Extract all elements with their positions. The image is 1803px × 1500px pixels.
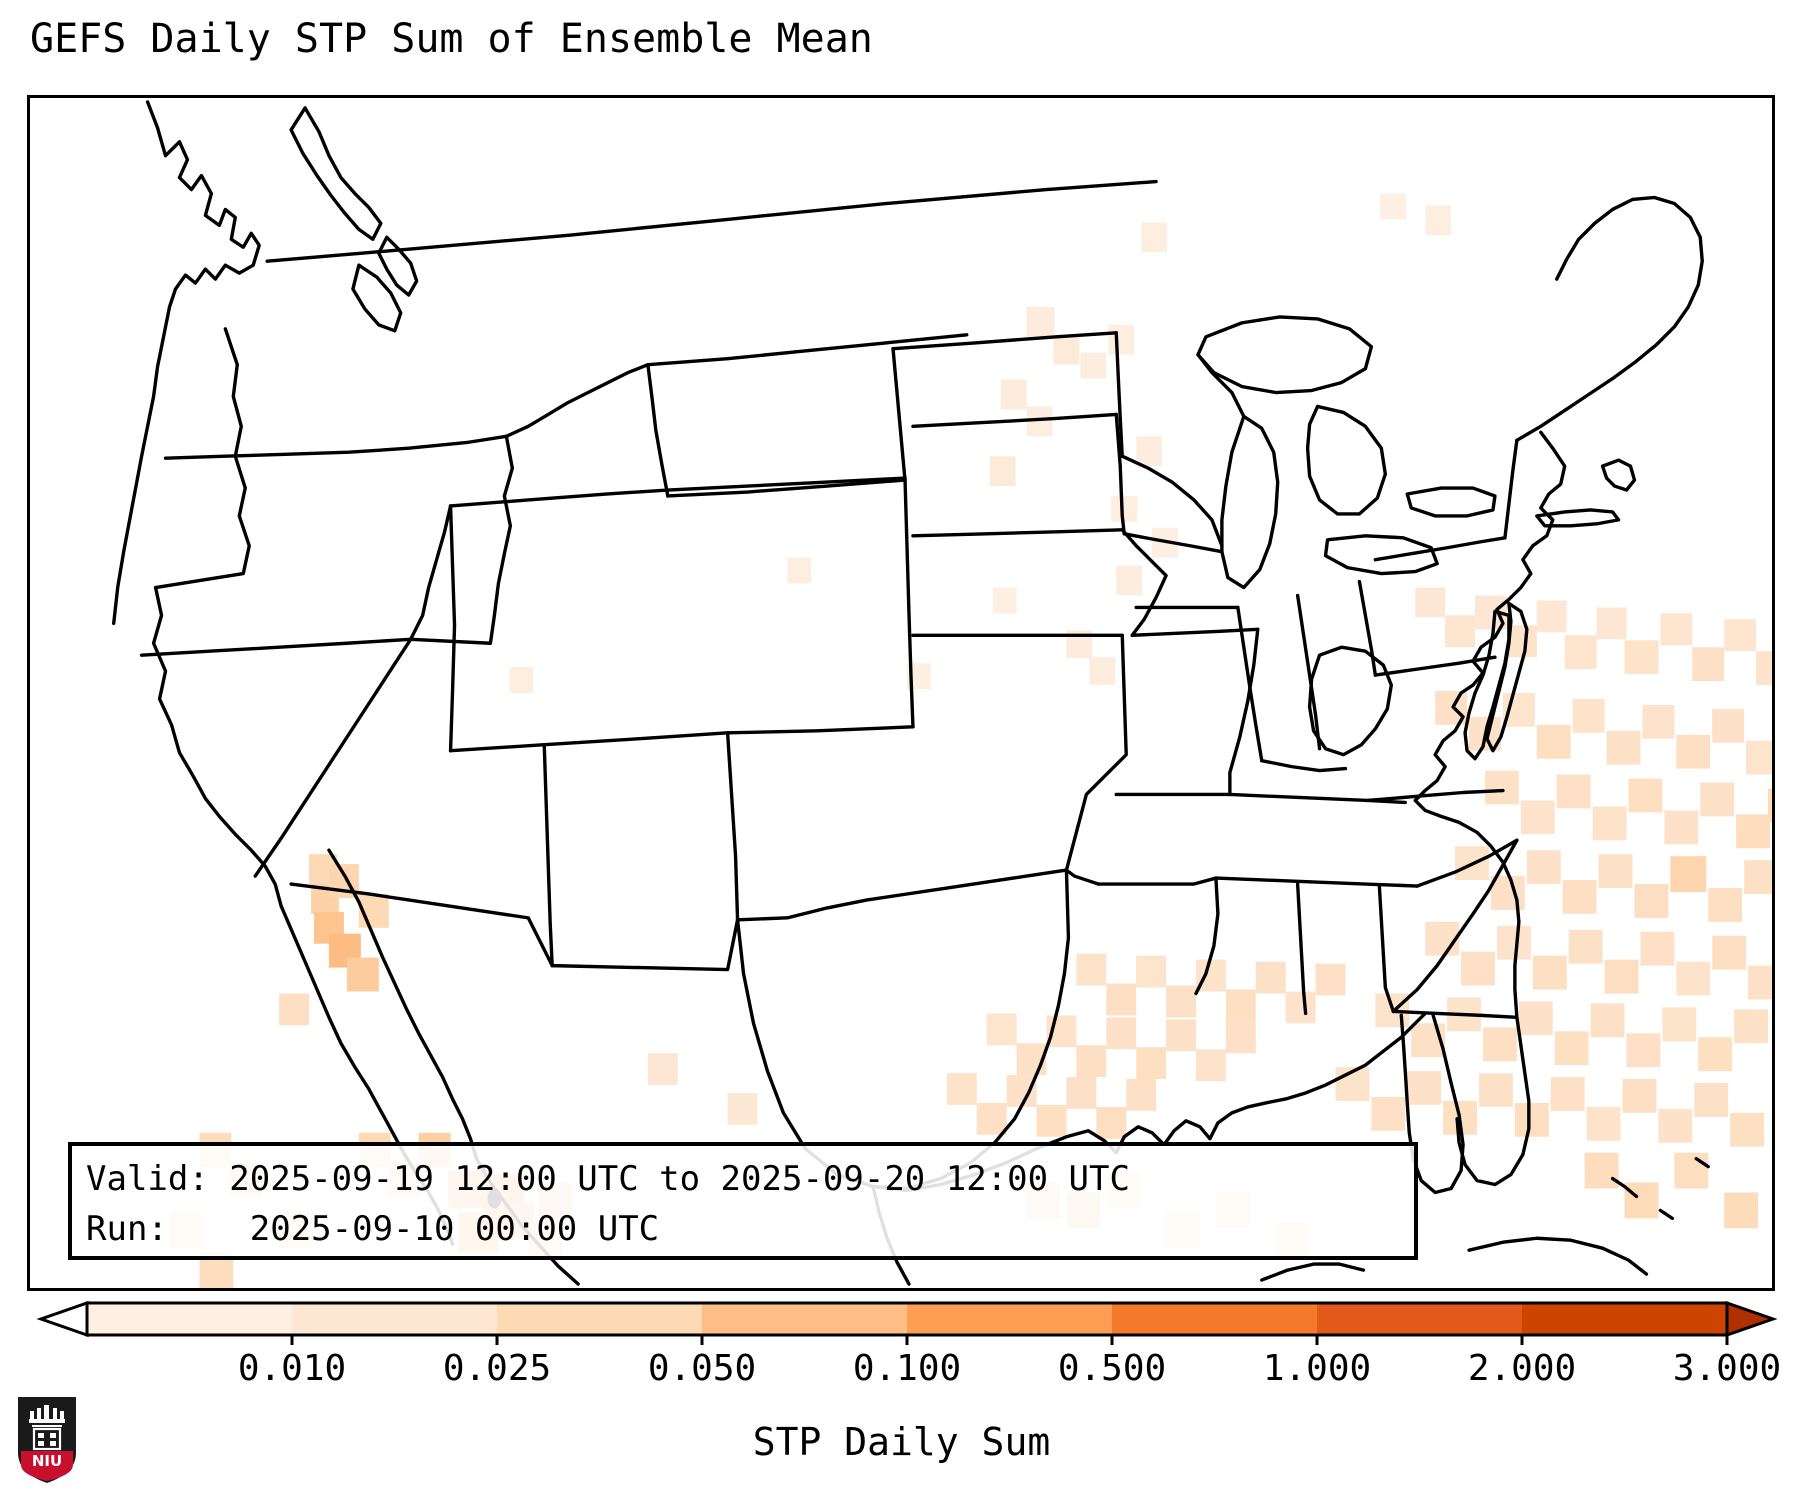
niu-logo: NIU (16, 1395, 78, 1485)
heatmap-cell (1371, 1097, 1405, 1131)
heatmap-cell (1746, 741, 1772, 775)
heatmap-cell (1642, 705, 1674, 739)
heatmap-cell (1585, 1153, 1619, 1189)
colorbar-segment (1522, 1303, 1728, 1335)
heatmap-cell (1141, 222, 1167, 252)
heatmap-cell (279, 993, 309, 1025)
page-title: GEFS Daily STP Sum of Ensemble Mean (30, 16, 873, 62)
heatmap-cell (1555, 1031, 1589, 1065)
heatmap-cell (1694, 1083, 1728, 1117)
border-ut-nv-az (451, 506, 455, 751)
colorbar-segment (292, 1303, 498, 1335)
heatmap-cell (1597, 607, 1627, 639)
border-ny-vt-ma (1505, 440, 1517, 538)
heatmap-cell (1089, 657, 1115, 685)
heatmap-cell (1634, 884, 1668, 918)
heatmap-cell (1607, 731, 1641, 765)
yucatan-coast (1262, 1264, 1364, 1280)
heatmap-cell (1037, 1105, 1067, 1137)
colorbar-tick-label: 0.500 (1058, 1348, 1166, 1389)
colorbar-tick-label: 0.100 (853, 1348, 961, 1389)
heatmap-cell (1166, 986, 1196, 1018)
border-nv-ut (411, 506, 451, 639)
heatmap-cell (1664, 810, 1698, 844)
border-az-nm (544, 745, 552, 966)
heatmap-cell (1551, 1077, 1585, 1111)
map-panel[interactable] (27, 95, 1775, 1291)
heatmap-cell (1623, 1079, 1657, 1113)
colorbar-extend-max (1727, 1303, 1773, 1335)
border-oh-pa (1359, 582, 1375, 676)
lake-erie (1326, 536, 1438, 574)
colorbar-segment (497, 1303, 703, 1335)
heatmap-cell (1407, 1071, 1441, 1105)
heatmap-cell (1730, 1113, 1764, 1147)
heatmap-cell (1768, 789, 1772, 823)
heatmap-cell (1533, 956, 1567, 990)
heatmap-cell (1599, 854, 1633, 888)
heatmap-cell (1670, 856, 1706, 892)
heatmap-cell (1425, 205, 1451, 235)
heatmap-cell (1674, 1153, 1708, 1189)
heatmap-cell (1708, 888, 1742, 922)
border-ok-tx (738, 870, 1067, 920)
heatmap-cell (1053, 335, 1079, 365)
heatmap-cell (1557, 775, 1591, 809)
heatmap-cell (728, 1093, 758, 1125)
colorbar-segment (1112, 1303, 1318, 1335)
heatmap-cell (1625, 640, 1659, 674)
border-id-mt-wy (506, 365, 648, 437)
heatmap-cell (1537, 725, 1571, 759)
heatmap-cell (1076, 954, 1106, 986)
heatmap-cell (1485, 771, 1519, 805)
heatmap-cell (648, 1053, 678, 1085)
forecast-info-box: Valid: 2025-09-19 12:00 UTC to 2025-09-2… (68, 1142, 1418, 1260)
heatmap-cell (1415, 588, 1445, 618)
heatmap-cell (1136, 956, 1166, 988)
heatmap-cell (1126, 1079, 1156, 1111)
heatmap-cell (1712, 936, 1746, 970)
heatmap-cell (347, 958, 379, 992)
heatmap-cell (1080, 353, 1106, 379)
border-ne-ks (913, 530, 1122, 536)
heatmap-cell (1136, 436, 1162, 466)
heatmap-cell (1565, 635, 1597, 669)
heatmap-cell (1625, 1183, 1659, 1219)
border-nv-ca-south (255, 639, 410, 876)
olympic-peninsula (353, 265, 401, 331)
niu-wordmark: NIU (32, 1452, 62, 1470)
colorbar-canvas[interactable] (27, 1295, 1787, 1345)
heatmap-cell (1521, 800, 1555, 834)
heatmap-cell (1660, 613, 1692, 645)
heatmap-cell (1628, 779, 1662, 813)
colorbar-tick-label: 2.000 (1468, 1348, 1576, 1389)
heatmap-cell (1380, 194, 1406, 220)
heatmap-cell (1676, 962, 1710, 996)
heatmap-cell (947, 1073, 977, 1105)
border-mt-wy (648, 335, 967, 365)
border-co-south (728, 727, 913, 733)
heatmap-cell (1479, 1073, 1513, 1107)
heatmap-cell (1527, 850, 1561, 884)
heatmap-cell (1316, 964, 1346, 996)
heatmap-cell (1736, 814, 1770, 848)
heatmap-cell (1569, 930, 1603, 964)
colorbar-segment (702, 1303, 908, 1335)
colorbar-segment (87, 1303, 293, 1335)
heatmap-cell (1627, 1033, 1661, 1067)
heatmap-cell (1537, 600, 1567, 632)
heatmap-cell (1226, 990, 1256, 1022)
border-ar-west (1066, 870, 1098, 884)
heatmap-cell (1573, 699, 1605, 733)
border-ar-la (1098, 878, 1216, 884)
border-sd-ne (913, 414, 1116, 426)
border-id-wy (648, 365, 668, 496)
colorbar-segments (41, 1303, 1773, 1335)
heatmap-cell (1734, 1009, 1768, 1043)
colorbar-axis-label: STP Daily Sum (0, 1420, 1803, 1464)
heatmap-cell (1515, 1103, 1549, 1137)
heatmap-cell (1712, 709, 1744, 743)
colorbar-tick-label: 1.000 (1263, 1348, 1371, 1389)
border-ut-az-co-nm (451, 733, 728, 751)
colorbar-tick-label: 0.050 (648, 1348, 756, 1389)
heatmap-cell (1491, 876, 1525, 910)
heatmap-cell (1591, 1003, 1625, 1037)
heatmap-cell (1027, 307, 1055, 337)
heatmap-cell (1676, 735, 1710, 769)
heatmap-cell (1658, 1109, 1692, 1143)
colorbar[interactable] (27, 1295, 1787, 1345)
border-ia-mo (1132, 629, 1258, 635)
colorbar-segment (1317, 1303, 1523, 1335)
heatmap-cell (977, 1103, 1007, 1135)
border-ut-north (451, 490, 668, 506)
cape-cod (1603, 460, 1635, 490)
heatmap-cell (1563, 880, 1597, 914)
heatmap-cell (1587, 1107, 1621, 1141)
maine-coast (1517, 197, 1702, 440)
lake-huron (1308, 406, 1386, 513)
lake-ontario (1407, 488, 1495, 516)
border-pa-ny (1375, 538, 1505, 560)
heatmap-cell (1111, 496, 1137, 522)
coastline-california (154, 329, 282, 906)
heatmap-cell (1461, 952, 1495, 986)
heatmap-cell (1136, 1047, 1166, 1079)
heatmap-cell (1744, 860, 1772, 894)
heatmap-cell (1605, 960, 1639, 994)
border-il-ky (1262, 761, 1346, 771)
colorbar-tick-label: 0.025 (443, 1348, 551, 1389)
heatmap-cell (1007, 1075, 1037, 1107)
border-wa-or (166, 436, 507, 458)
heatmap-cell (1116, 566, 1142, 596)
border-or-id (411, 436, 513, 643)
border-va-nc (1367, 791, 1503, 801)
heatmap-cell (1724, 619, 1756, 651)
heatmap-cell (1445, 615, 1475, 647)
heatmap-cell (1001, 380, 1027, 410)
heatmap-cell (1483, 1027, 1517, 1061)
heatmap-cell (1593, 806, 1627, 840)
lake-michigan (1222, 416, 1278, 587)
heatmap-cell (1076, 1045, 1106, 1077)
border-nm-tx (552, 920, 737, 970)
vancouver-island (291, 108, 381, 239)
heatmap-cell (990, 456, 1016, 486)
colorbar-tick-labels: 0.0100.0250.0500.1000.5001.0002.0003.000 (27, 1348, 1787, 1392)
border-co-east (905, 478, 913, 727)
border-tn-south (1216, 878, 1417, 886)
heatmap-cell (1066, 1077, 1096, 1109)
heatmap-cell (1096, 1107, 1126, 1139)
west-virginia (1310, 647, 1392, 754)
border-in-oh (1298, 595, 1320, 748)
heatmap-cell (1748, 966, 1772, 1000)
heatmap-cell (1286, 991, 1316, 1023)
heatmap-cell (1196, 1049, 1226, 1081)
border-or-ca-nv (142, 639, 411, 655)
border-co-nm-west (728, 733, 738, 920)
heatmap-cell (1724, 1192, 1758, 1228)
heatmap-cell (993, 588, 1017, 614)
heatmap-cell (1662, 1007, 1696, 1041)
cuba (1469, 1238, 1646, 1274)
heatmap-cell (1692, 647, 1724, 681)
heatmap-cell (1106, 984, 1136, 1016)
border-wy-east (893, 349, 905, 480)
heatmap-cell (1698, 1037, 1732, 1071)
heatmap-cell (1226, 1021, 1256, 1053)
colorbar-tick-label: 3.000 (1673, 1348, 1781, 1389)
border-us-canada (267, 182, 1156, 262)
heatmap-cell (1497, 926, 1531, 960)
lake-superior (1198, 317, 1371, 393)
heatmap-cell (1166, 1019, 1196, 1051)
border-nd-sd (893, 333, 1116, 349)
heatmap-cell (1700, 783, 1734, 817)
heatmap-cell (987, 1013, 1017, 1045)
heatmap-cell (1106, 1017, 1136, 1049)
run-time-text: Run: 2025-09-10 00:00 UTC (86, 1204, 1400, 1254)
border-al-ga (1379, 886, 1393, 1011)
heatmap-cell (1640, 932, 1674, 966)
heatmap-cell (1256, 962, 1286, 994)
heatmap-cells (170, 194, 1772, 1288)
colorbar-segment (907, 1303, 1113, 1335)
colorbar-tick-label: 0.010 (238, 1348, 346, 1389)
heatmap-cell (787, 558, 811, 584)
valid-time-text: Valid: 2025-09-19 12:00 UTC to 2025-09-2… (86, 1154, 1400, 1204)
colorbar-extend-min (41, 1303, 87, 1335)
heatmap-cell (1519, 1001, 1553, 1035)
heatmap-cell (1756, 651, 1772, 685)
map-canvas[interactable] (30, 98, 1772, 1288)
heatmap-cell (509, 667, 533, 693)
heatmap-cell (1108, 325, 1134, 355)
